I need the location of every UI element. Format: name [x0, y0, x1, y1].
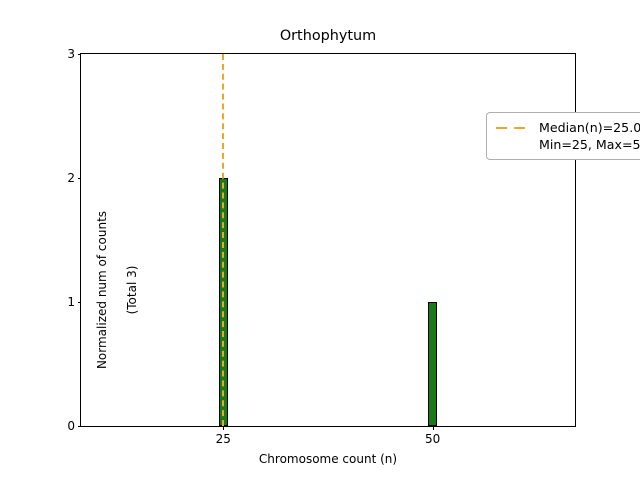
- y-axis-label-line1: Normalized num of counts: [95, 211, 109, 369]
- xtick-label: 25: [216, 432, 231, 446]
- dashed-line-icon: [495, 120, 531, 136]
- xtick-mark: [223, 426, 224, 430]
- median-line: [222, 54, 224, 426]
- figure-canvas: Orthophytum 0 1 2 3 25 50: [0, 0, 640, 480]
- page-title: Orthophytum: [80, 27, 576, 45]
- ytick-label: 1: [67, 295, 75, 309]
- legend-entry-median: Median(n)=25.0 Min=25, Max=50: [495, 119, 640, 153]
- x-axis-label: Chromosome count (n): [80, 452, 576, 466]
- ytick-label: 3: [67, 47, 75, 61]
- ytick-label: 2: [67, 171, 75, 185]
- bar-50: [428, 302, 436, 426]
- xtick-mark: [433, 426, 434, 430]
- legend-label-line1: Median(n)=25.0: [539, 120, 640, 135]
- plot-inner: [81, 54, 575, 426]
- ytick-label: 0: [67, 419, 75, 433]
- legend-label-median: Median(n)=25.0 Min=25, Max=50: [539, 119, 640, 153]
- legend-label-line2: Min=25, Max=50: [539, 137, 640, 152]
- legend: Median(n)=25.0 Min=25, Max=50: [486, 112, 640, 160]
- y-axis-label: Normalized num of counts (Total 3): [80, 103, 140, 477]
- y-axis-label-line2: (Total 3): [125, 266, 139, 315]
- xtick-label: 50: [425, 432, 440, 446]
- plot-area: 0 1 2 3 25 50: [80, 53, 576, 427]
